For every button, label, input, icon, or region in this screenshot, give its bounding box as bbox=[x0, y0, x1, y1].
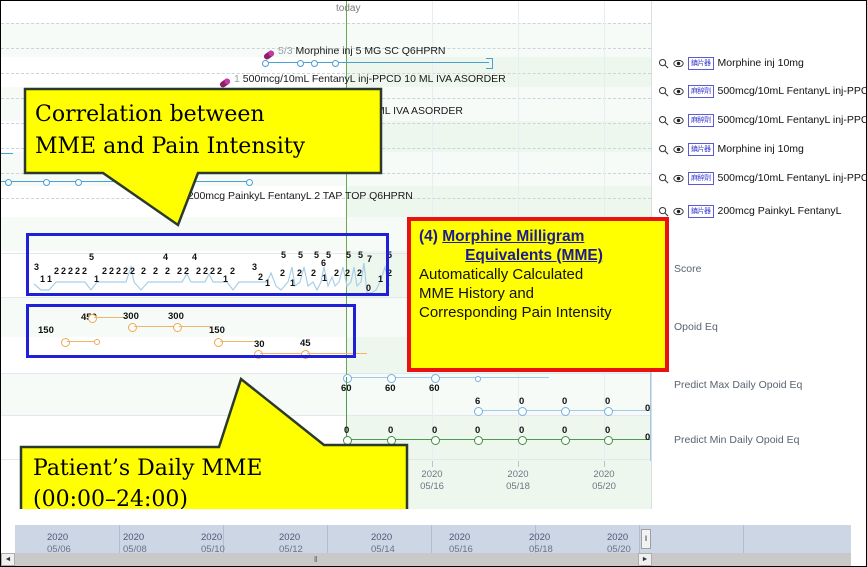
legend-badge: 麻醉劑 bbox=[688, 114, 714, 127]
callout-red-number: (4) bbox=[419, 228, 438, 245]
callout-red-body3: Corresponding Pain Intensity bbox=[419, 303, 657, 322]
callout-red-title-line1: (4) Morphine Milligram bbox=[419, 227, 657, 246]
legend-label: 200mcg PainkyL FentanyL bbox=[718, 205, 842, 217]
predict-max-label: 0 bbox=[605, 397, 610, 407]
callout-correlation-line1: Correlation between bbox=[35, 99, 375, 131]
predict-min-label: 0 bbox=[605, 426, 610, 436]
callout-red-title2: Equivalents (MME) bbox=[465, 247, 603, 264]
search-icon[interactable] bbox=[658, 86, 669, 97]
navigator-grip[interactable]: ‖ bbox=[314, 555, 316, 564]
callout-daily-mme-text: Patient’s Daily MME (00:00–24:00) bbox=[33, 453, 403, 515]
navigator-scroll-left-button[interactable]: ◄ bbox=[1, 553, 15, 566]
search-icon[interactable] bbox=[658, 206, 669, 217]
callout-red-body1: Automatically Calculated bbox=[419, 265, 657, 284]
predict-min-point bbox=[431, 436, 440, 445]
navigator-year: 2020 bbox=[201, 532, 222, 543]
x-tick-date: 05/16 bbox=[402, 481, 462, 493]
legend-panel: 鎮片器 Morphine inj 10mg 麻醉劑 500mcg/10mL Fe… bbox=[651, 1, 867, 509]
timeline-navigator[interactable]: 2020 05/06 2020 05/08 2020 05/10 2020 05… bbox=[1, 509, 866, 566]
eye-icon[interactable] bbox=[673, 173, 684, 184]
navigator-year: 2020 bbox=[47, 532, 68, 543]
legend-row[interactable]: 麻醉劑 500mcg/10mL FentanyL inj-PPCD bbox=[658, 81, 867, 101]
callout-red-body2: MME History and bbox=[419, 284, 657, 303]
legend-row[interactable]: 鎮片器 Morphine inj 10mg bbox=[658, 139, 804, 159]
callout-mme-description: (4) Morphine Milligram Equivalents (MME)… bbox=[407, 217, 669, 372]
callout-red-title1: Morphine Milligram bbox=[442, 228, 584, 245]
x-tick-year: 2020 bbox=[402, 469, 462, 481]
callout-daily-mme-line1: Patient’s Daily MME bbox=[33, 453, 403, 484]
x-tick-mark bbox=[604, 461, 605, 467]
predict-max-point bbox=[561, 407, 570, 416]
search-icon[interactable] bbox=[658, 58, 669, 69]
x-axis-tick: 2020 05/18 bbox=[488, 469, 548, 493]
legend-badge: 麻醉劑 bbox=[688, 85, 714, 98]
legend-row[interactable]: 鎮片器 200mcg PainkyL FentanyL bbox=[658, 201, 841, 221]
predict-max-label: 0 bbox=[562, 397, 567, 407]
predict-max-point bbox=[518, 407, 527, 416]
x-tick-mark bbox=[432, 461, 433, 467]
x-tick-year: 2020 bbox=[574, 469, 634, 481]
navigator-cell[interactable] bbox=[431, 525, 536, 553]
legend-label: 500mcg/10mL FentanyL inj-PPCD bbox=[718, 85, 867, 97]
callout-red-title-line2: Equivalents (MME) bbox=[419, 246, 657, 265]
legend-label: 500mcg/10mL FentanyL inj-PPCD bbox=[718, 114, 867, 126]
x-tick-date: 05/20 bbox=[574, 481, 634, 493]
navigator-scrollbar[interactable] bbox=[15, 553, 851, 566]
predict-min-point bbox=[561, 436, 570, 445]
navigator-cell[interactable] bbox=[743, 525, 848, 553]
legend-label: 500mcg/10mL FentanyL inj-PPCD bbox=[718, 172, 867, 184]
x-tick-mark bbox=[518, 461, 519, 467]
navigator-year: 2020 bbox=[123, 532, 144, 543]
highlight-box-pain-intensity bbox=[26, 233, 389, 296]
predict-min-point bbox=[518, 436, 527, 445]
predict-max-label: 6 bbox=[475, 397, 480, 407]
predict-min-label: 0 bbox=[475, 426, 480, 436]
x-axis-tick: 2020 05/20 bbox=[574, 469, 634, 493]
callout-correlation-line2: MME and Pain Intensity bbox=[35, 131, 375, 163]
navigator-year: 2020 bbox=[529, 532, 550, 543]
series-label-predict-max: Predict Max Daily Opoid Eq bbox=[674, 379, 802, 391]
navigator-year: 2020 bbox=[607, 532, 628, 543]
predict-min-label: 0 bbox=[432, 426, 437, 436]
search-icon[interactable] bbox=[658, 173, 669, 184]
predict-max-point bbox=[475, 376, 481, 382]
eye-icon[interactable] bbox=[673, 86, 684, 97]
navigator-cell[interactable] bbox=[639, 525, 744, 553]
eye-icon[interactable] bbox=[673, 58, 684, 69]
predict-max-point bbox=[604, 407, 613, 416]
navigator-resize-handle[interactable]: ‖ bbox=[641, 529, 651, 549]
navigator-year: 2020 bbox=[449, 532, 470, 543]
legend-badge: 鎮片器 bbox=[688, 205, 714, 218]
highlight-box-daily-mme bbox=[26, 304, 356, 358]
predict-min-label: 0 bbox=[562, 426, 567, 436]
eye-icon[interactable] bbox=[673, 115, 684, 126]
legend-row[interactable]: 麻醉劑 500mcg/10mL FentanyL inj-PPCD bbox=[658, 110, 867, 130]
legend-label: Morphine inj 10mg bbox=[718, 57, 804, 69]
series-label-score: Score bbox=[674, 263, 701, 275]
legend-badge: 鎮片器 bbox=[688, 57, 714, 70]
eye-icon[interactable] bbox=[673, 144, 684, 155]
navigator-year: 2020 bbox=[371, 532, 392, 543]
navigator-year: 2020 bbox=[279, 532, 300, 543]
legend-badge: 鎮片器 bbox=[688, 143, 714, 156]
x-tick-date: 05/18 bbox=[488, 481, 548, 493]
predict-min-label: 0 bbox=[519, 426, 524, 436]
series-label-predict-min: Predict Min Daily Opoid Eq bbox=[674, 434, 799, 446]
navigator-scroll-right-button[interactable]: ► bbox=[638, 553, 652, 566]
predict-max-label: 60 bbox=[429, 384, 440, 394]
legend-label: Morphine inj 10mg bbox=[718, 143, 804, 155]
navigator-cell[interactable] bbox=[223, 525, 328, 553]
opioid-mme-timeline-screenshot: today 5/3 Morphine inj 5 MG SC Q6HPRN 1 … bbox=[0, 0, 867, 567]
predict-max-point bbox=[474, 407, 483, 416]
series-label-opioid-eq: Opoid Eq bbox=[674, 321, 718, 333]
legend-badge: 麻醉劑 bbox=[688, 172, 714, 185]
callout-correlation-text: Correlation between MME and Pain Intensi… bbox=[35, 99, 375, 163]
eye-icon[interactable] bbox=[673, 206, 684, 217]
x-axis-tick: 2020 05/16 bbox=[402, 469, 462, 493]
x-tick-year: 2020 bbox=[488, 469, 548, 481]
predict-min-point bbox=[474, 436, 483, 445]
predict-min-point bbox=[604, 436, 613, 445]
predict-max-point bbox=[431, 374, 440, 383]
search-icon[interactable] bbox=[658, 115, 669, 126]
legend-row[interactable]: 鎮片器 Morphine inj 10mg bbox=[658, 53, 804, 73]
predict-max-label: 0 bbox=[519, 397, 524, 407]
search-icon[interactable] bbox=[658, 144, 669, 155]
legend-row[interactable]: 麻醉劑 500mcg/10mL FentanyL inj-PPCD bbox=[658, 168, 867, 188]
